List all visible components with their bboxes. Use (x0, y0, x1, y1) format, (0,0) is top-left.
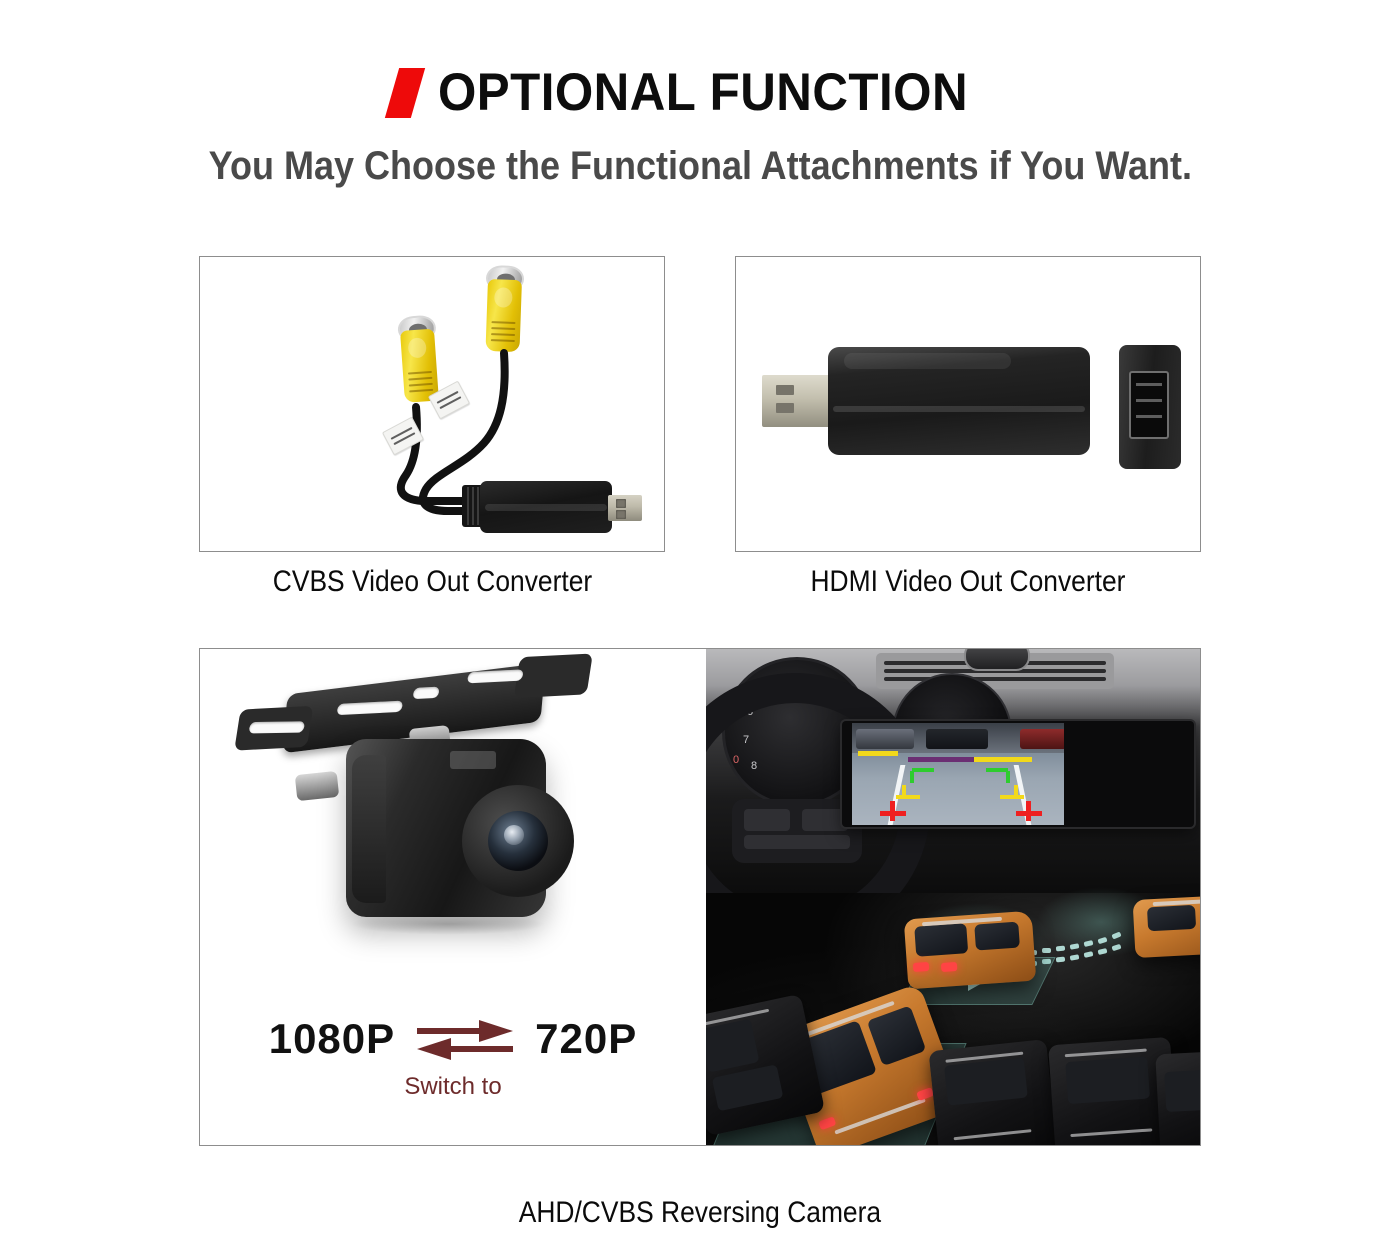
cvbs-dongle-body (480, 481, 612, 533)
camera-illustration (260, 669, 660, 989)
product-panel-camera: 1080P 720P Switch to 5 (199, 648, 1201, 1146)
dashboard-center-dial-icon (964, 649, 1030, 671)
camera-fisheye-lens-icon (488, 811, 548, 871)
caption-camera-text: AHD/CVBS Reversing Camera (519, 1196, 881, 1230)
switch-to-label: Switch to (200, 1073, 706, 1101)
steering-wheel-button-left[interactable] (744, 809, 790, 831)
cvbs-converter-image (200, 257, 664, 551)
caption-camera: AHD/CVBS Reversing Camera (199, 1196, 1201, 1230)
camera-housing (346, 739, 546, 917)
guideline-red (880, 811, 906, 816)
resolution-to: 720P (535, 1015, 637, 1063)
guideline-yellow (896, 795, 920, 799)
camera-brand-logo-icon (450, 751, 496, 769)
wheel-stop-marking (858, 751, 898, 756)
usb-a-plug-icon (762, 375, 832, 427)
wheel-stop-marking (908, 757, 974, 762)
caption-hdmi-text: HDMI Video Out Converter (811, 565, 1126, 599)
usb-a-plug-icon (608, 495, 642, 521)
page-subtitle-text: You May Choose the Functional Attachment… (208, 144, 1191, 189)
infographic-page: OPTIONAL FUNCTION You May Choose the Fun… (0, 0, 1400, 1258)
wheel-stop-marking (974, 757, 1032, 762)
parked-vehicle-center (928, 1039, 1057, 1145)
resolution-switch-row: 1080P 720P (200, 1015, 706, 1063)
parking-lot-scene (706, 893, 1200, 1145)
camera-lens-dome (462, 785, 574, 897)
head-unit-display[interactable] (842, 721, 1194, 827)
caption-cvbs: CVBS Video Out Converter (199, 565, 665, 599)
product-panel-cvbs (199, 256, 665, 552)
parked-vehicle-far-right (1155, 1052, 1200, 1145)
parked-car-thumb (856, 729, 914, 749)
steering-wheel-button-bar[interactable] (744, 835, 850, 849)
page-header: OPTIONAL FUNCTION (0, 62, 1400, 123)
caption-cvbs-text: CVBS Video Out Converter (272, 565, 591, 599)
page-title: OPTIONAL FUNCTION (438, 62, 968, 123)
guideline-green (910, 771, 914, 783)
parked-car-thumb (1020, 729, 1064, 749)
hdmi-dongle-end-view (1119, 345, 1181, 469)
reversing-vehicle-upper (904, 911, 1037, 990)
resolution-from: 1080P (269, 1015, 395, 1063)
red-slash-accent-icon (385, 68, 425, 118)
camera-shadow (350, 913, 546, 935)
hdmi-port-icon (1129, 371, 1169, 439)
reversing-camera-scene: 5 6 7 8 0 951 m (706, 649, 1200, 1145)
guideline-green (986, 768, 1008, 772)
reversing-camera-image: 1080P 720P Switch to (200, 649, 706, 1145)
hdmi-dongle-body (828, 347, 1090, 455)
product-panel-hdmi (735, 256, 1201, 552)
parked-car-thumb (926, 729, 988, 749)
guideline-red (1016, 811, 1042, 816)
switch-arrows-icon (417, 1016, 513, 1062)
page-subtitle: You May Choose the Functional Attachment… (0, 144, 1400, 189)
caption-hdmi: HDMI Video Out Converter (735, 565, 1201, 599)
reversing-camera-view (852, 723, 1064, 825)
guideline-green (912, 768, 934, 772)
car-dashboard: 5 6 7 8 0 951 m (706, 649, 1200, 907)
hdmi-converter-image (736, 257, 1200, 551)
guideline-green (1006, 771, 1010, 783)
reversing-vehicle-far (1133, 894, 1200, 958)
guideline-yellow (1000, 795, 1024, 799)
camera-hinge-screw-left (295, 771, 339, 801)
